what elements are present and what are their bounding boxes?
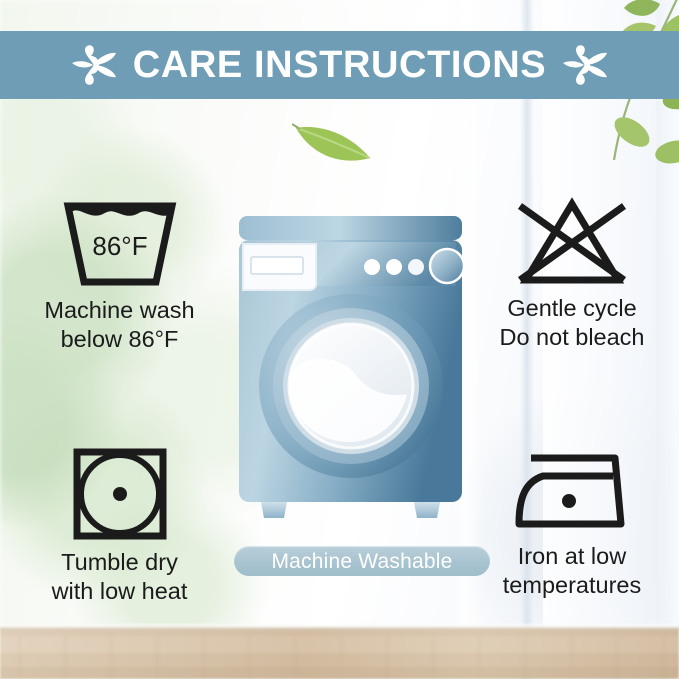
care-symbol-iron: Iron at low temperatures	[466, 452, 678, 600]
care-instructions-infographic: CARE INSTRUCTIONS 86°F Machine wash belo…	[0, 0, 679, 679]
table-edge-highlight	[0, 624, 679, 630]
care-symbol-caption: Gentle cycle Do not bleach	[466, 294, 678, 352]
floating-leaf-decoration	[292, 118, 376, 168]
wash-tub-icon-wrapper: 86°F	[12, 198, 227, 290]
care-symbol-caption: Iron at low temperatures	[466, 542, 678, 600]
washer-foot	[414, 502, 440, 518]
bleach-icon-wrapper	[466, 196, 678, 288]
care-symbol-caption: Machine wash below 86°F	[12, 296, 227, 354]
washer-button[interactable]	[386, 259, 402, 275]
care-symbol-tumble-dry: Tumble dry with low heat	[12, 446, 227, 606]
fleur-de-lis-icon	[562, 44, 608, 86]
washer-button[interactable]	[408, 259, 424, 275]
iron-icon-wrapper	[466, 452, 678, 536]
fleur-de-lis-icon	[71, 44, 117, 86]
machine-washable-badge: Machine Washable	[234, 546, 490, 576]
washer-lid	[239, 216, 462, 240]
tumble-dry-low-icon	[70, 446, 170, 542]
iron-one-dot-icon	[509, 452, 635, 536]
wood-grain-texture	[0, 636, 679, 678]
care-symbol-caption: Tumble dry with low heat	[12, 548, 227, 606]
washer-button[interactable]	[364, 259, 380, 275]
page-title: CARE INSTRUCTIONS	[133, 46, 546, 84]
badge-label: Machine Washable	[271, 551, 452, 572]
wash-temperature-value: 86°F	[92, 231, 147, 261]
header-banner: CARE INSTRUCTIONS	[0, 31, 679, 99]
control-knob[interactable]	[430, 249, 464, 283]
washing-machine-illustration	[231, 214, 470, 534]
wash-tub-icon: 86°F	[60, 198, 180, 290]
care-symbol-do-not-bleach: Gentle cycle Do not bleach	[466, 196, 678, 352]
washer-foot	[261, 502, 287, 518]
detergent-drawer-slot	[251, 257, 303, 274]
tumble-dry-icon-wrapper	[12, 446, 227, 542]
care-symbol-machine-wash: 86°F Machine wash below 86°F	[12, 198, 227, 354]
triangle-crossed-out-icon	[512, 196, 632, 288]
